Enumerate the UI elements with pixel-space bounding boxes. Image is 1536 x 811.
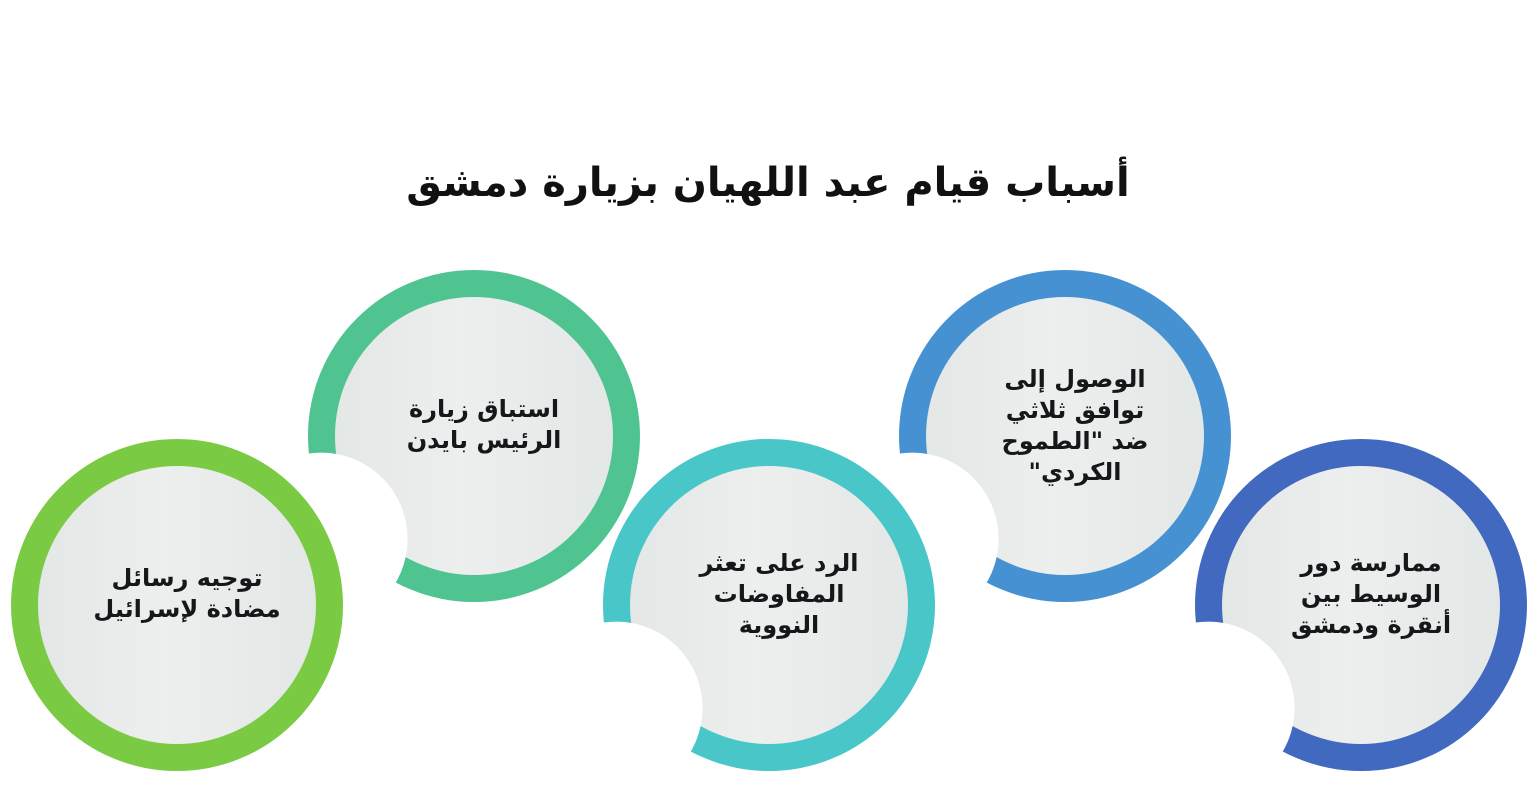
infographic-root: أسباب قيام عبد اللهيان بزيارة دمشق توجيه…: [0, 0, 1536, 811]
process-node-1[interactable]: [3, 431, 351, 779]
process-diagram: توجيه رسائل مضادة لإسرائيلاستباق زيارة ا…: [0, 0, 1536, 811]
process-node-5[interactable]: [1187, 431, 1535, 779]
node-disc: [630, 466, 909, 745]
node-disc: [1222, 466, 1501, 745]
node-disc: [926, 297, 1205, 576]
node-disc: [38, 466, 317, 745]
node-disc: [335, 297, 614, 576]
